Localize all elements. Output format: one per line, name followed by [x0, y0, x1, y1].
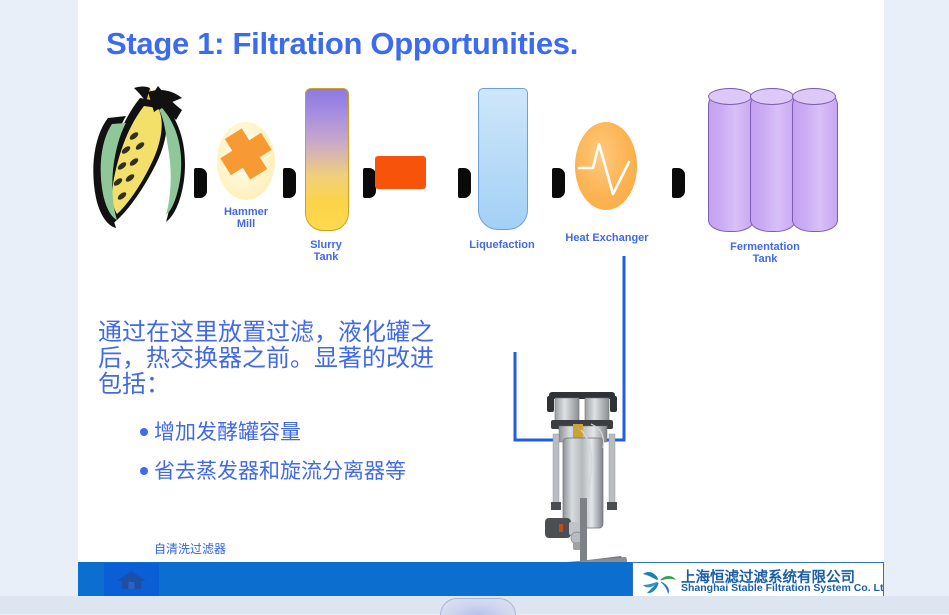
slide-canvas: Stage 1: Filtration Opportunities. — [78, 0, 884, 596]
corn-cob-icon — [84, 80, 202, 230]
label-heat-exchanger: Heat Exchanger — [558, 232, 656, 244]
body-paragraph: 通过在这里放置过滤，液化罐之后，热交换器之前。显著的改进包括： — [98, 320, 443, 398]
cooker-block-icon — [375, 156, 426, 189]
process-flow-diagram: Hammer Mill Slurry Tank Liquefaction — [78, 80, 884, 280]
fermentation-tank-1-icon — [708, 88, 754, 232]
belt-connector-4 — [458, 168, 471, 198]
fermentation-tank-2-top — [750, 88, 794, 105]
liquefaction-tank-icon — [478, 88, 528, 230]
right-margin — [884, 0, 949, 614]
label-liquefaction: Liquefaction — [466, 239, 538, 251]
bullet-dot-icon — [140, 467, 148, 475]
home-button[interactable] — [104, 563, 159, 596]
left-margin — [0, 0, 78, 614]
slide-viewer: Stage 1: Filtration Opportunities. — [0, 0, 949, 614]
belt-connector-6 — [672, 168, 685, 198]
fermentation-tank-1-top — [708, 88, 752, 105]
bullet-dot-icon — [140, 428, 148, 436]
label-fermentation-tank: Fermentation Tank — [698, 241, 832, 265]
slurry-tank-icon — [305, 88, 349, 231]
home-icon — [115, 569, 148, 591]
heat-exchanger-icon — [575, 122, 637, 210]
label-slurry-tank: Slurry Tank — [293, 239, 359, 263]
fermentation-tank-3-top — [792, 88, 836, 105]
bottom-ornament — [440, 598, 516, 615]
bullet-item-2: 省去蒸发器和旋流分离器等 — [140, 455, 406, 485]
belt-connector-5 — [552, 168, 565, 198]
belt-connector-1 — [194, 168, 207, 198]
company-logo-block: 上海恒滤过滤系统有限公司 Shanghai Stable Filtration … — [632, 562, 884, 596]
fermentation-tank-2-icon — [750, 88, 796, 232]
fermentation-tank-3-icon — [792, 88, 838, 232]
company-name-en: Shanghai Stable Filtration System Co. Lt… — [681, 582, 884, 594]
label-hammer-mill: Hammer Mill — [213, 206, 279, 230]
bullet-item-1: 增加发酵罐容量 — [140, 416, 301, 446]
photo-caption: 自清洗过滤器 — [154, 540, 226, 557]
self-cleaning-filter-photo — [529, 378, 639, 573]
pinwheel-logo-icon — [639, 567, 679, 595]
slide-title: Stage 1: Filtration Opportunities. — [106, 26, 846, 62]
belt-connector-2 — [283, 168, 296, 198]
